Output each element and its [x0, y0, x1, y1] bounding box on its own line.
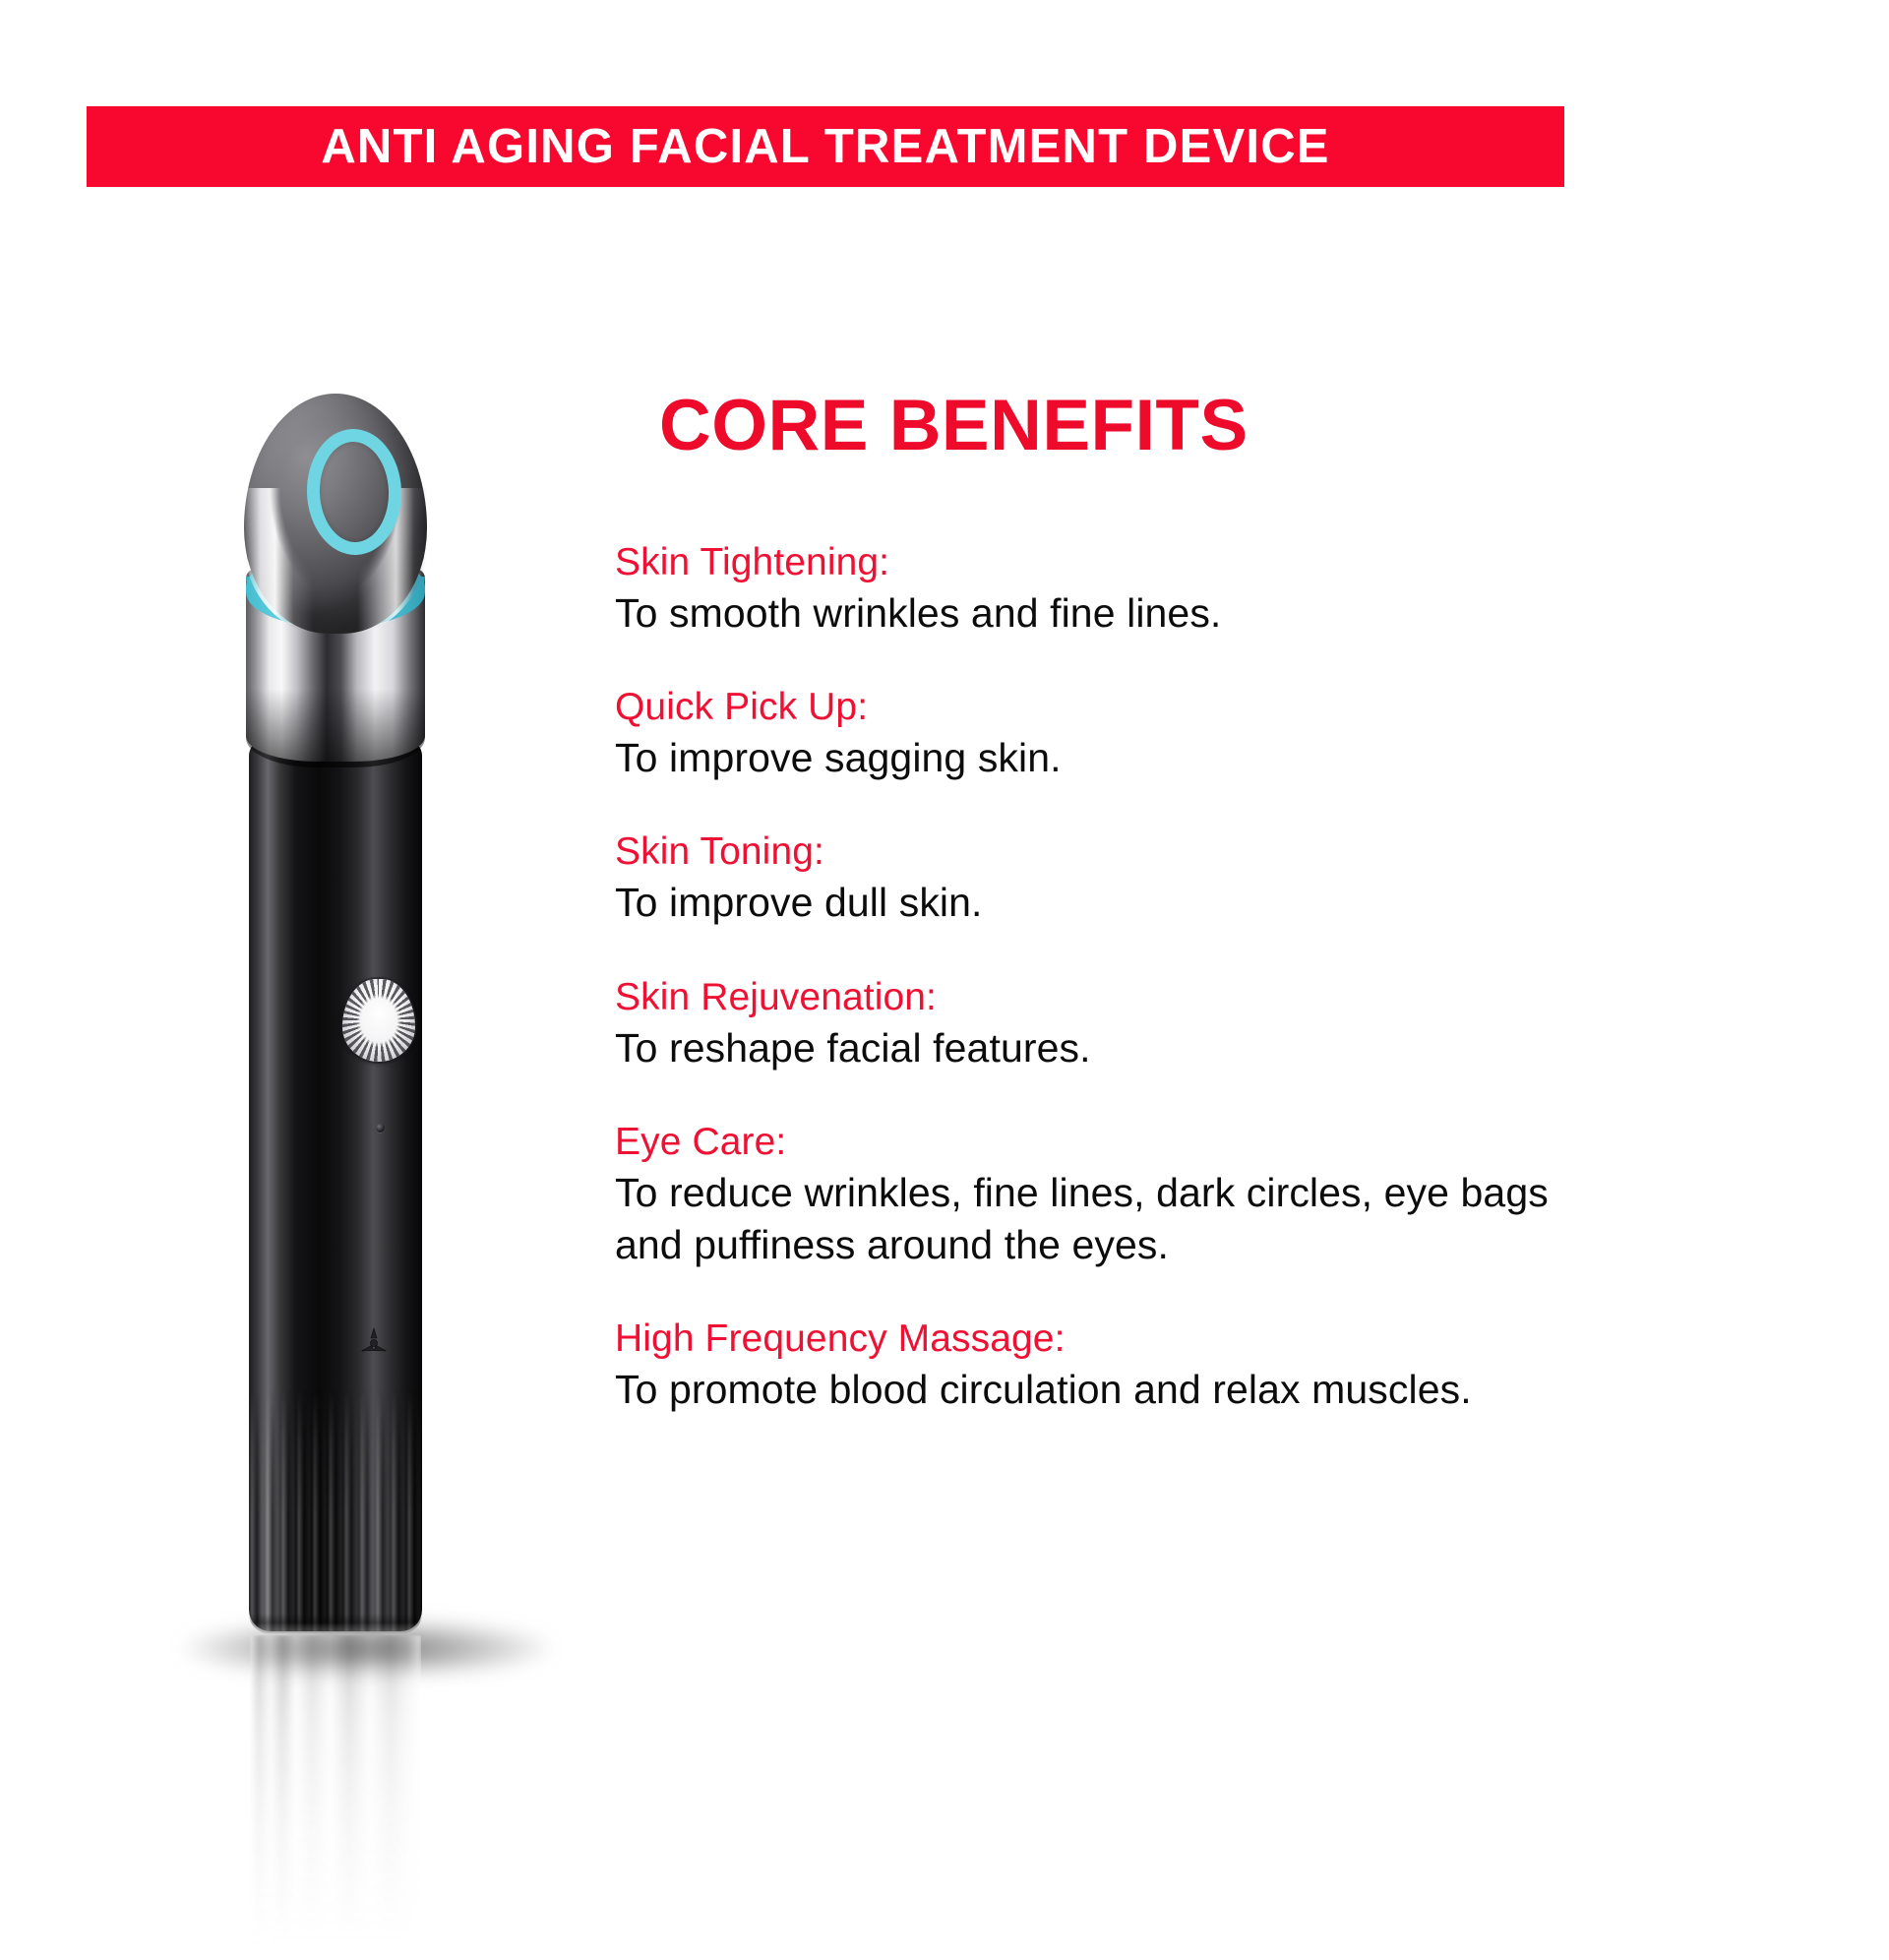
- device-base-edge: [249, 1614, 422, 1633]
- device-reflection: [250, 1635, 421, 1960]
- benefit-label: Skin Toning:: [615, 827, 1855, 877]
- benefit-label: High Frequency Massage:: [615, 1315, 1855, 1364]
- benefit-label: Eye Care:: [615, 1118, 1855, 1167]
- benefit-item: Quick Pick Up: To improve sagging skin.: [615, 683, 1855, 784]
- benefit-description: To reshape facial features.: [615, 1022, 1609, 1074]
- benefit-description: To promote blood circulation and relax m…: [615, 1364, 1609, 1416]
- benefit-item: Skin Toning: To improve dull skin.: [615, 827, 1855, 929]
- led-indicator-icon: [376, 1124, 385, 1133]
- benefit-item: Eye Care: To reduce wrinkles, fine lines…: [615, 1118, 1855, 1272]
- benefit-label: Skin Tightening:: [615, 538, 1855, 587]
- brand-mark-icon: [357, 1325, 391, 1359]
- power-button-serration-icon: [342, 979, 415, 1062]
- benefit-description: To improve dull skin.: [615, 877, 1609, 929]
- header-banner: ANTI AGING FACIAL TREATMENT DEVICE: [87, 106, 1564, 187]
- device-fluted-base-texture: [249, 1389, 422, 1631]
- benefit-item: Skin Tightening: To smooth wrinkles and …: [615, 538, 1855, 640]
- benefit-label: Quick Pick Up:: [615, 683, 1855, 732]
- product-image: [167, 394, 580, 1771]
- section-heading: CORE BENEFITS: [659, 390, 1855, 461]
- benefit-description: To reduce wrinkles, fine lines, dark cir…: [615, 1167, 1609, 1272]
- benefit-item: Skin Rejuvenation: To reshape facial fea…: [615, 973, 1855, 1074]
- page-title: ANTI AGING FACIAL TREATMENT DEVICE: [321, 123, 1329, 171]
- benefit-description: To improve sagging skin.: [615, 732, 1609, 784]
- benefit-description: To smooth wrinkles and fine lines.: [615, 587, 1609, 640]
- benefit-item: High Frequency Massage: To promote blood…: [615, 1315, 1855, 1416]
- core-benefits-section: CORE BENEFITS Skin Tightening: To smooth…: [615, 390, 1855, 1460]
- device-illustration: [167, 394, 580, 1663]
- benefit-label: Skin Rejuvenation:: [615, 973, 1855, 1022]
- device-chrome-shadow: [246, 689, 425, 767]
